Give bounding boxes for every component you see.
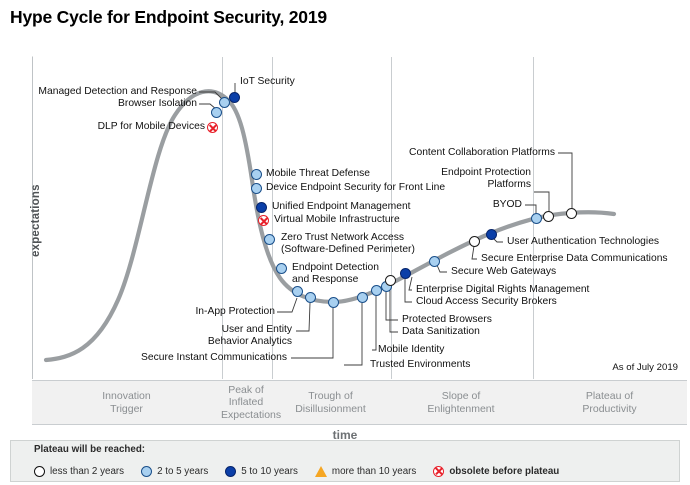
circle-white-icon — [34, 466, 45, 477]
legend-item-label: 2 to 5 years — [157, 466, 208, 477]
legend-item-obsolete-before-plateau: obsolete before plateau — [433, 466, 559, 477]
phase-label-line2: Disillusionment — [273, 403, 388, 415]
label-secure-web-gateways: Secure Web Gateways — [451, 266, 556, 278]
as-of-date: As of July 2019 — [612, 362, 678, 373]
label-endpoint-protection-platforms-line1: Endpoint Protection — [400, 167, 531, 179]
phase-label-line2: Productivity — [534, 403, 685, 415]
label-endpoint-detection-line1: Endpoint Detection — [292, 262, 379, 274]
legend-item-label: 5 to 10 years — [241, 466, 298, 477]
page-title: Hype Cycle for Endpoint Security, 2019 — [10, 7, 327, 28]
legend-items: less than 2 years 2 to 5 years 5 to 10 y… — [34, 462, 673, 480]
legend-item-less-than-2-years: less than 2 years — [34, 466, 124, 477]
dot-virtual-mobile-infrastructure[interactable] — [258, 215, 269, 226]
legend-item-5-to-10-years: 5 to 10 years — [225, 466, 298, 477]
phase-trough-of-disillusionment: Trough of Disillusionment — [271, 381, 390, 424]
label-dlp-for-mobile-devices: DLP for Mobile Devices — [0, 121, 205, 133]
dot-browser-isolation[interactable] — [211, 107, 222, 118]
dot-zero-trust-network-access[interactable] — [264, 234, 275, 245]
legend-item-more-than-10-years: more than 10 years — [315, 466, 416, 477]
dot-secure-instant-communications[interactable] — [328, 297, 339, 308]
label-byod: BYOD — [440, 199, 522, 211]
dot-managed-detection-and-response[interactable] — [219, 97, 230, 108]
dot-secure-web-gateways[interactable] — [429, 256, 440, 267]
phase-label-line3: Expectations — [221, 409, 271, 421]
label-virtual-mobile-infrastructure: Virtual Mobile Infrastructure — [274, 214, 400, 226]
label-protected-browsers: Protected Browsers — [402, 314, 492, 326]
label-data-sanitization: Data Sanitization — [402, 326, 480, 338]
dot-mobile-threat-defense[interactable] — [251, 169, 262, 180]
dot-cloud-access-security-brokers[interactable] — [400, 268, 411, 279]
dot-device-endpoint-security[interactable] — [251, 183, 262, 194]
phase-band: Innovation Trigger Peak of Inflated Expe… — [32, 380, 687, 425]
label-mobile-threat-defense: Mobile Threat Defense — [266, 168, 370, 180]
label-zero-trust-network-access-line1: Zero Trust Network Access — [281, 232, 404, 244]
phase-label-line1: Slope of — [392, 390, 530, 402]
label-iot-security: IoT Security — [240, 76, 295, 88]
phase-label-line2: Trigger — [34, 403, 219, 415]
label-cloud-access-security-brokers: Cloud Access Security Brokers — [416, 296, 557, 308]
dot-byod[interactable] — [531, 213, 542, 224]
phase-label-line1: Innovation — [34, 390, 219, 402]
label-ueba-line1: User and Entity — [140, 324, 292, 336]
phase-plateau-of-productivity: Plateau of Productivity — [532, 381, 687, 424]
phase-label-line1: Plateau of — [534, 390, 685, 402]
label-unified-endpoint-management: Unified Endpoint Management — [272, 201, 411, 213]
dot-dlp-for-mobile-devices[interactable] — [207, 122, 218, 133]
dot-protected-browsers[interactable] — [385, 275, 396, 286]
phase-innovation-trigger: Innovation Trigger — [32, 381, 221, 424]
dot-unified-endpoint-management[interactable] — [256, 202, 267, 213]
label-user-authentication-technologies: User Authentication Technologies — [507, 236, 659, 248]
triangle-orange-icon — [315, 466, 327, 477]
dot-trusted-environments[interactable] — [357, 292, 368, 303]
dot-iot-security[interactable] — [229, 92, 240, 103]
legend-item-label: obsolete before plateau — [449, 466, 559, 477]
dot-content-collaboration-platforms[interactable] — [566, 208, 577, 219]
label-trusted-environments: Trusted Environments — [370, 359, 470, 371]
phase-label-line1: Trough of — [273, 390, 388, 402]
y-axis-label: expectations — [30, 137, 42, 257]
label-browser-isolation: Browser Isolation — [0, 98, 197, 110]
label-mobile-identity: Mobile Identity — [378, 344, 444, 356]
label-endpoint-detection-line2: and Response — [292, 274, 358, 286]
dot-endpoint-protection-platforms[interactable] — [543, 211, 554, 222]
label-enterprise-digital-rights-management: Enterprise Digital Rights Management — [416, 284, 589, 296]
circle-red-x-icon — [433, 466, 444, 477]
circle-light-blue-icon — [141, 466, 152, 477]
label-endpoint-protection-platforms-line2: Platforms — [400, 179, 531, 191]
legend-title: Plateau will be reached: — [34, 444, 145, 455]
legend-item-label: more than 10 years — [332, 466, 416, 477]
dot-in-app-protection[interactable] — [292, 286, 303, 297]
dot-endpoint-detection-and-response[interactable] — [276, 263, 287, 274]
legend-item-2-to-5-years: 2 to 5 years — [141, 466, 208, 477]
legend-item-label: less than 2 years — [50, 466, 124, 477]
phase-label-line1: Peak of — [221, 384, 271, 396]
label-ueba-line2: Behavior Analytics — [140, 336, 292, 348]
phase-label-line2: Enlightenment — [392, 403, 530, 415]
phase-slope-of-enlightenment: Slope of Enlightenment — [390, 381, 532, 424]
label-secure-instant-communications: Secure Instant Communications — [100, 352, 287, 364]
label-secure-enterprise-data-communications: Secure Enterprise Data Communications — [481, 253, 668, 265]
label-zero-trust-network-access-line2: (Software-Defined Perimeter) — [281, 244, 415, 256]
label-content-collaboration-platforms: Content Collaboration Platforms — [380, 147, 555, 159]
dot-user-and-entity-behavior-analytics[interactable] — [305, 292, 316, 303]
circle-dark-blue-icon — [225, 466, 236, 477]
legend: FREEBUF Plateau will be reached: less th… — [10, 440, 680, 482]
phase-label-line2: Inflated — [221, 396, 271, 408]
label-in-app-protection: In-App Protection — [120, 306, 275, 318]
dot-secure-enterprise-data-communications[interactable] — [469, 236, 480, 247]
hype-cycle-chart: Hype Cycle for Endpoint Security, 2019 e… — [0, 0, 690, 485]
label-managed-detection-and-response: Managed Detection and Response — [0, 86, 197, 98]
dot-user-authentication-technologies[interactable] — [486, 229, 497, 240]
phase-peak-of-inflated-expectations: Peak of Inflated Expectations — [221, 381, 271, 424]
